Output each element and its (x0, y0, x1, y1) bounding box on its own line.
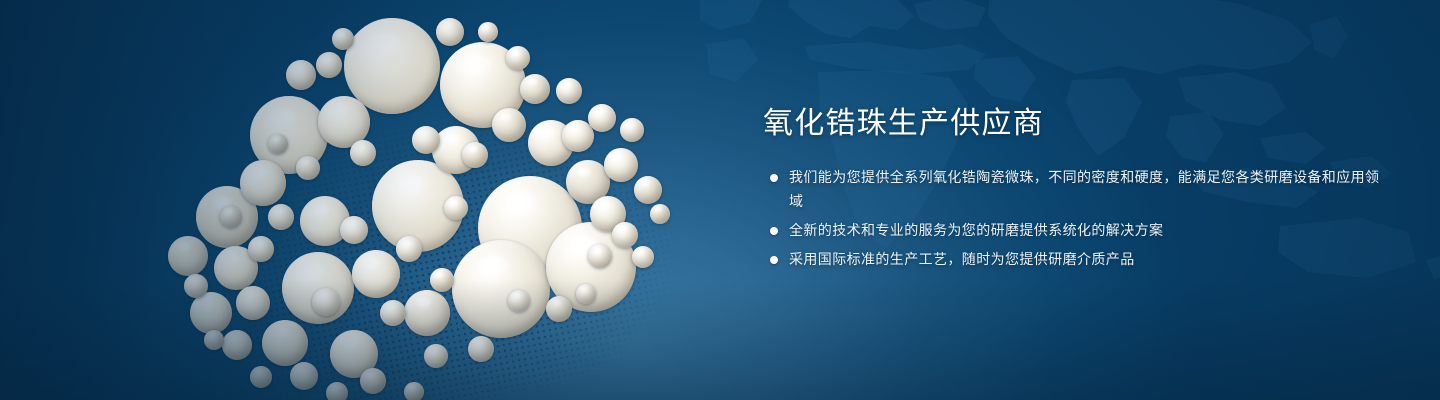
list-item: 全新的技术和专业的服务为您的研磨提供系统化的解决方案 (763, 219, 1383, 243)
bullet-dot-icon (770, 227, 778, 235)
list-item: 我们能为您提供全系列氧化锆陶瓷微珠，不同的密度和硬度，能满足您各类研磨设备和应用… (763, 166, 1383, 214)
list-item-text: 采用国际标准的生产工艺，随时为您提供研磨介质产品 (789, 252, 1135, 268)
feature-list: 我们能为您提供全系列氧化锆陶瓷微珠，不同的密度和硬度，能满足您各类研磨设备和应用… (763, 166, 1383, 272)
banner-copy: 氧化锆珠生产供应商 我们能为您提供全系列氧化锆陶瓷微珠，不同的密度和硬度，能满足… (763, 104, 1383, 277)
list-item: 采用国际标准的生产工艺，随时为您提供研磨介质产品 (763, 248, 1383, 272)
bullet-dot-icon (770, 256, 778, 264)
bullet-dot-icon (770, 174, 778, 182)
list-item-text: 全新的技术和专业的服务为您的研磨提供系统化的解决方案 (789, 223, 1163, 239)
background-bottom-fade (0, 280, 1440, 400)
list-item-text: 我们能为您提供全系列氧化锆陶瓷微珠，不同的密度和硬度，能满足您各类研磨设备和应用… (789, 170, 1379, 210)
banner-headline: 氧化锆珠生产供应商 (763, 104, 1383, 144)
hero-banner: 氧化锆珠生产供应商 我们能为您提供全系列氧化锆陶瓷微珠，不同的密度和硬度，能满足… (0, 0, 1440, 400)
